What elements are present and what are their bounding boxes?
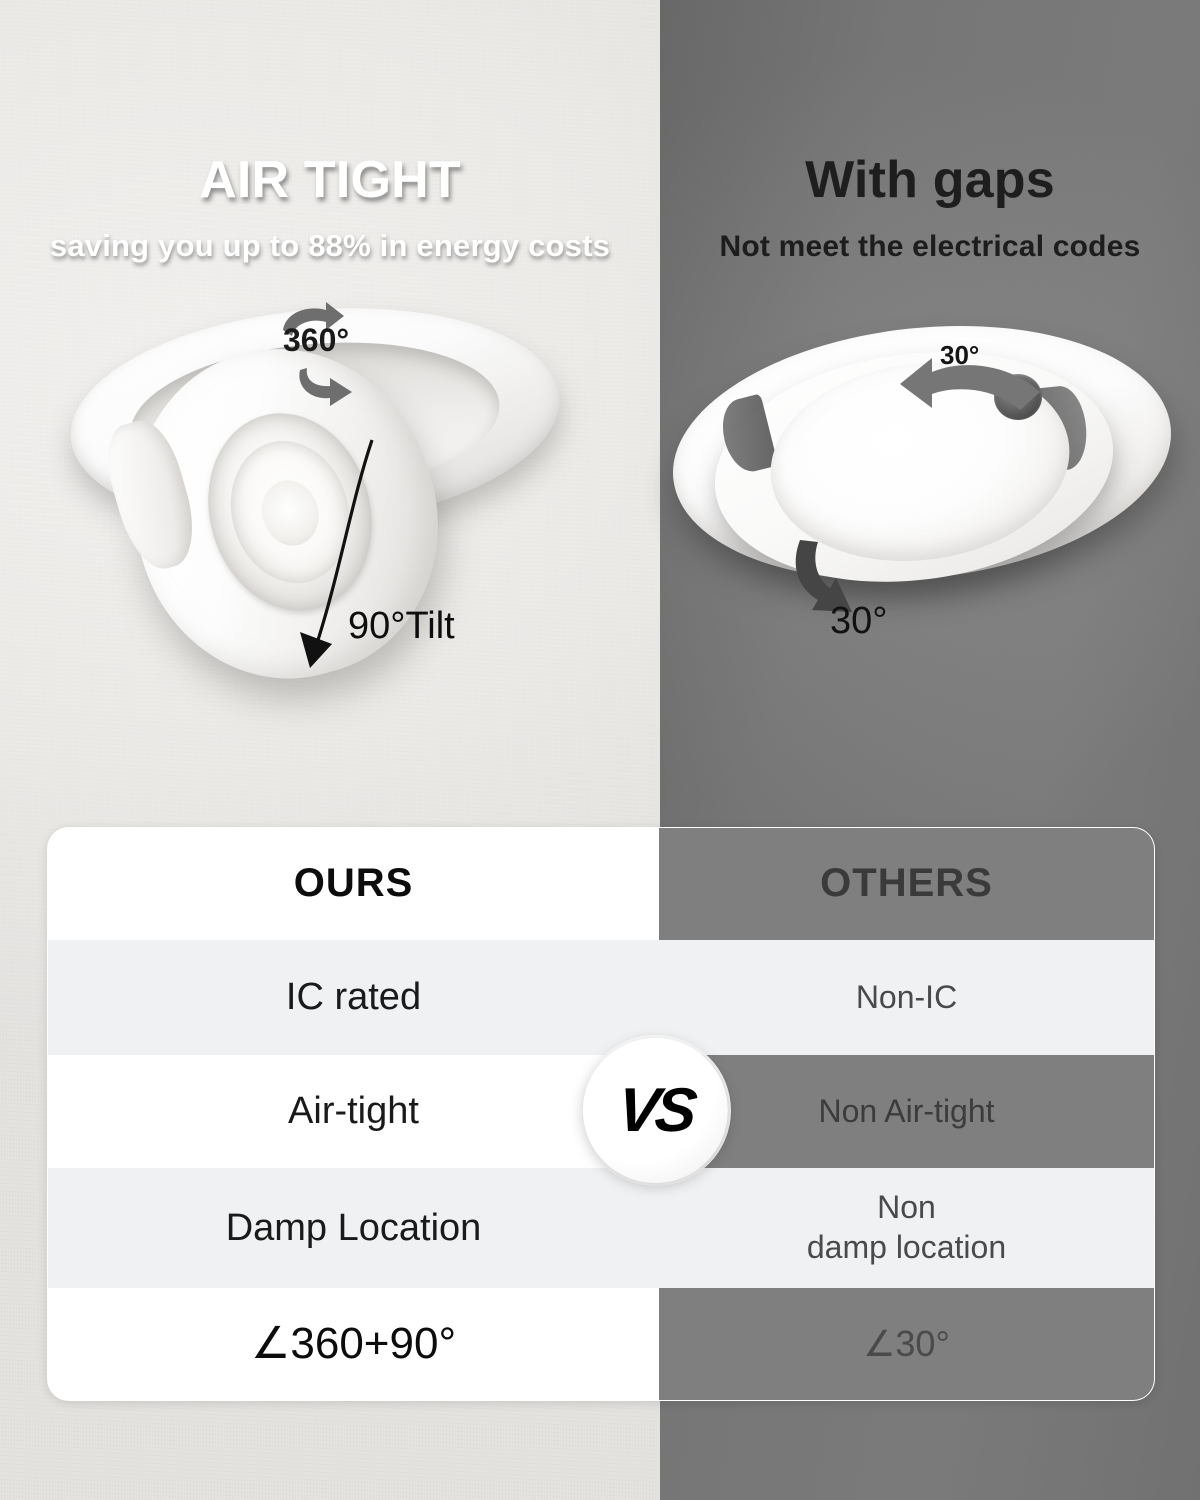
vs-badge: VS (583, 1038, 728, 1183)
product-comparison-infographic: AIR TIGHT saving you up to 88% in energy… (0, 0, 1200, 1500)
right-panel-title: With gaps (660, 150, 1200, 210)
table-row: ∠360+90° ∠30° (48, 1288, 1154, 1400)
label-360-degrees: 360° (283, 322, 349, 359)
cell-others-angle: ∠30° (659, 1288, 1154, 1400)
cell-ours-damp-location: Damp Location (48, 1168, 659, 1288)
cell-others-damp-line2: damp location (807, 1229, 1006, 1267)
table-row: IC rated Non-IC (48, 940, 1154, 1055)
cell-others-damp-line1: Non (807, 1189, 1006, 1227)
cell-others-non-damp-location: Non damp location (659, 1168, 1154, 1288)
gapped-downlight-illustration (672, 328, 1182, 628)
cell-ours-air-tight: Air-tight (48, 1055, 659, 1168)
table-row: Damp Location Non damp location (48, 1168, 1154, 1288)
cell-others-non-ic: Non-IC (659, 940, 1154, 1055)
column-header-ours: OURS (48, 828, 659, 940)
right-panel-subtitle: Not meet the electrical codes (660, 230, 1200, 264)
left-panel-subtitle: saving you up to 88% in energy costs (0, 228, 660, 264)
label-30-degrees-lower: 30° (830, 600, 887, 643)
table-header-row: OURS OTHERS (48, 828, 1154, 940)
column-header-others: OTHERS (659, 828, 1154, 940)
mounting-screw-icon (994, 374, 1042, 420)
cell-ours-angle: ∠360+90° (48, 1288, 659, 1400)
label-30-degrees-upper: 30° (940, 340, 979, 371)
cell-ours-ic-rated: IC rated (48, 940, 659, 1055)
label-90-tilt: 90°Tilt (348, 605, 455, 648)
vs-label: VS (614, 1075, 696, 1146)
cell-others-non-air-tight: Non Air-tight (659, 1055, 1154, 1168)
left-panel-title: AIR TIGHT (0, 150, 660, 210)
